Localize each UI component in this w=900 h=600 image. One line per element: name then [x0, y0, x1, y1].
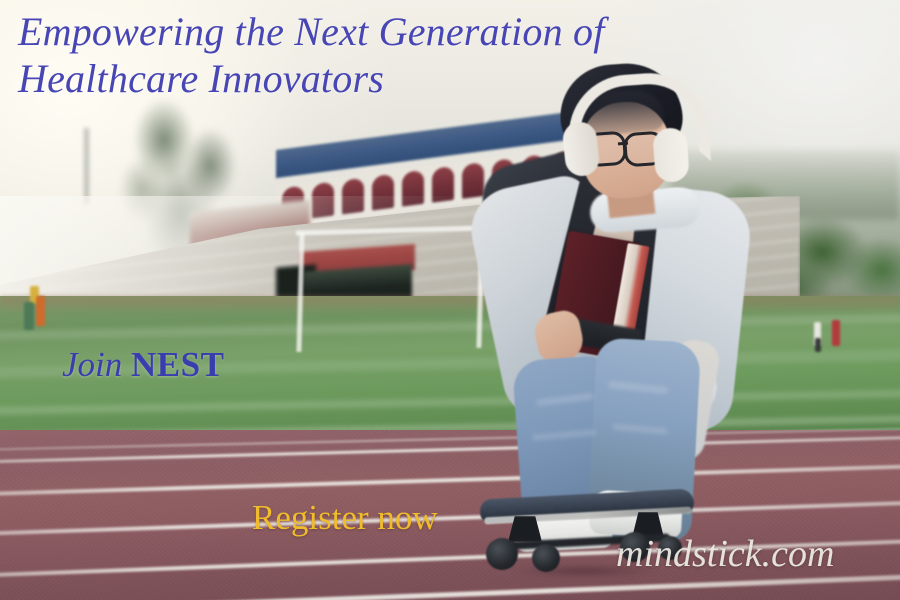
headline: Empowering the Next Generation of Health… [18, 8, 778, 102]
distant-person [815, 338, 821, 352]
headline-line-1: Empowering the Next Generation of [18, 8, 778, 55]
join-label: Join [62, 345, 131, 384]
light-pole [84, 128, 89, 204]
headphones-earcup [652, 127, 690, 183]
mindstick-watermark: mindstick.com [616, 532, 834, 576]
distant-person [36, 296, 45, 326]
register-now-cta[interactable]: Register now [252, 498, 438, 538]
distant-person [24, 302, 34, 330]
skateboard-wheel [486, 538, 518, 570]
nest-label: NEST [131, 345, 224, 384]
headline-line-2: Healthcare Innovators [18, 55, 778, 102]
distant-person [832, 320, 840, 346]
join-nest-cta[interactable]: Join NEST [62, 345, 224, 385]
skateboard-wheel [532, 544, 560, 572]
marketing-banner: Empowering the Next Generation of Health… [0, 0, 900, 600]
